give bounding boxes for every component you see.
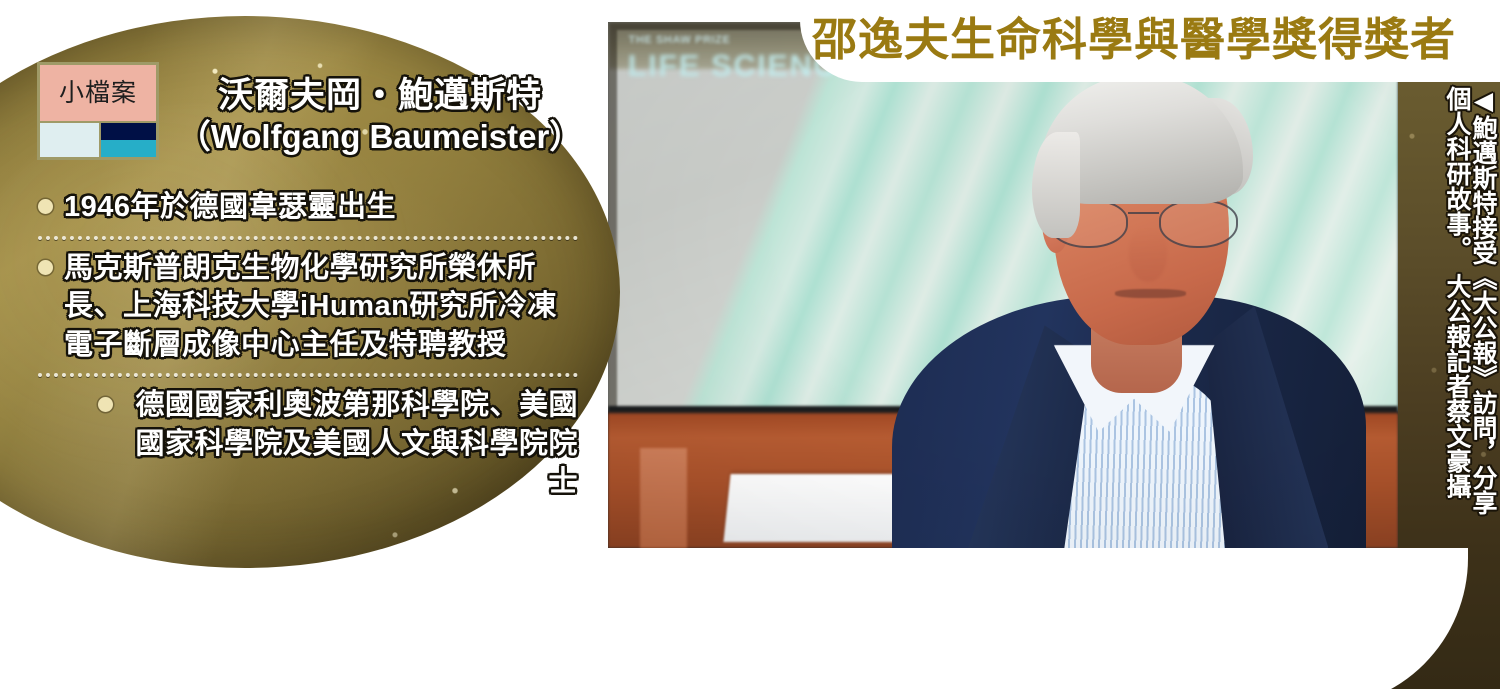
subject-photo: THE SHAW PRIZE LIFE SCIENCE & — [608, 22, 1398, 548]
badge-label-box: 小檔案 — [40, 65, 156, 121]
caption-side-panel-tail — [1390, 548, 1500, 689]
caption-side-panel: ◀鮑邁斯特接受《大公報》訪問，分享 個人科研故事。 大公報記者蔡文豪攝 — [1390, 80, 1500, 548]
screen-subtitle-text: THE SHAW PRIZE — [629, 34, 731, 46]
fact-text: 德國國家利奧波第那科學院、美國國家科學院及美國人文與科學院院士 — [124, 386, 578, 502]
bullet-dot-icon — [38, 260, 53, 275]
badge-block-column — [101, 123, 156, 157]
dotted-divider — [38, 373, 578, 377]
hair-side — [1032, 132, 1079, 238]
profile-content: 小檔案 沃爾夫岡・鮑邁斯特 （Wolfgang Baumeister） 1946… — [0, 0, 620, 580]
mouth — [1115, 289, 1186, 298]
badge-color-blocks — [40, 123, 156, 157]
list-item: 德國國家利奧波第那科學院、美國國家科學院及美國人文與科學院院士 — [38, 386, 578, 502]
page-title: 邵逸夫生命科學與醫學獎得獎者 — [812, 17, 1456, 62]
badge-block-teal — [101, 140, 156, 157]
fact-text: 1946年於德國韋瑟靈出生 — [64, 188, 396, 227]
profile-name-block: 沃爾夫岡・鮑邁斯特 （Wolfgang Baumeister） — [170, 76, 590, 156]
badge-block-navy — [101, 123, 156, 140]
badge-label: 小檔案 — [59, 81, 137, 106]
list-item: 馬克斯普朗克生物化學研究所榮休所長、上海科技大學iHuman研究所冷凍電子斷層成… — [38, 249, 578, 365]
photo-content: THE SHAW PRIZE LIFE SCIENCE & — [608, 22, 1398, 548]
person-figure — [892, 64, 1366, 548]
bullet-dot-icon — [98, 397, 113, 412]
caption-column-left: 個人科研故事。 大公報記者蔡文豪攝 — [1444, 86, 1470, 534]
lens-right — [1159, 200, 1239, 248]
profile-facts-list: 1946年於德國韋瑟靈出生 馬克斯普朗克生物化學研究所榮休所長、上海科技大學iH… — [38, 188, 578, 502]
fact-text: 馬克斯普朗克生物化學研究所榮休所長、上海科技大學iHuman研究所冷凍電子斷層成… — [64, 249, 578, 365]
dotted-divider — [38, 236, 578, 240]
profile-name-chinese: 沃爾夫岡・鮑邁斯特 — [170, 76, 590, 117]
glasses-bridge — [1128, 212, 1158, 214]
caption-column-right: ◀鮑邁斯特接受《大公報》訪問，分享 — [1470, 86, 1496, 534]
desk-post — [640, 448, 687, 548]
list-item: 1946年於德國韋瑟靈出生 — [38, 188, 578, 227]
profile-badge: 小檔案 — [37, 62, 159, 160]
photo-caption: ◀鮑邁斯特接受《大公報》訪問，分享 個人科研故事。 大公報記者蔡文豪攝 — [1390, 80, 1500, 548]
badge-block-cyan — [40, 123, 99, 157]
infographic-root: ◀鮑邁斯特接受《大公報》訪問，分享 個人科研故事。 大公報記者蔡文豪攝 THE … — [0, 0, 1500, 689]
bullet-dot-icon — [38, 199, 53, 214]
profile-name-english: （Wolfgang Baumeister） — [170, 119, 590, 156]
